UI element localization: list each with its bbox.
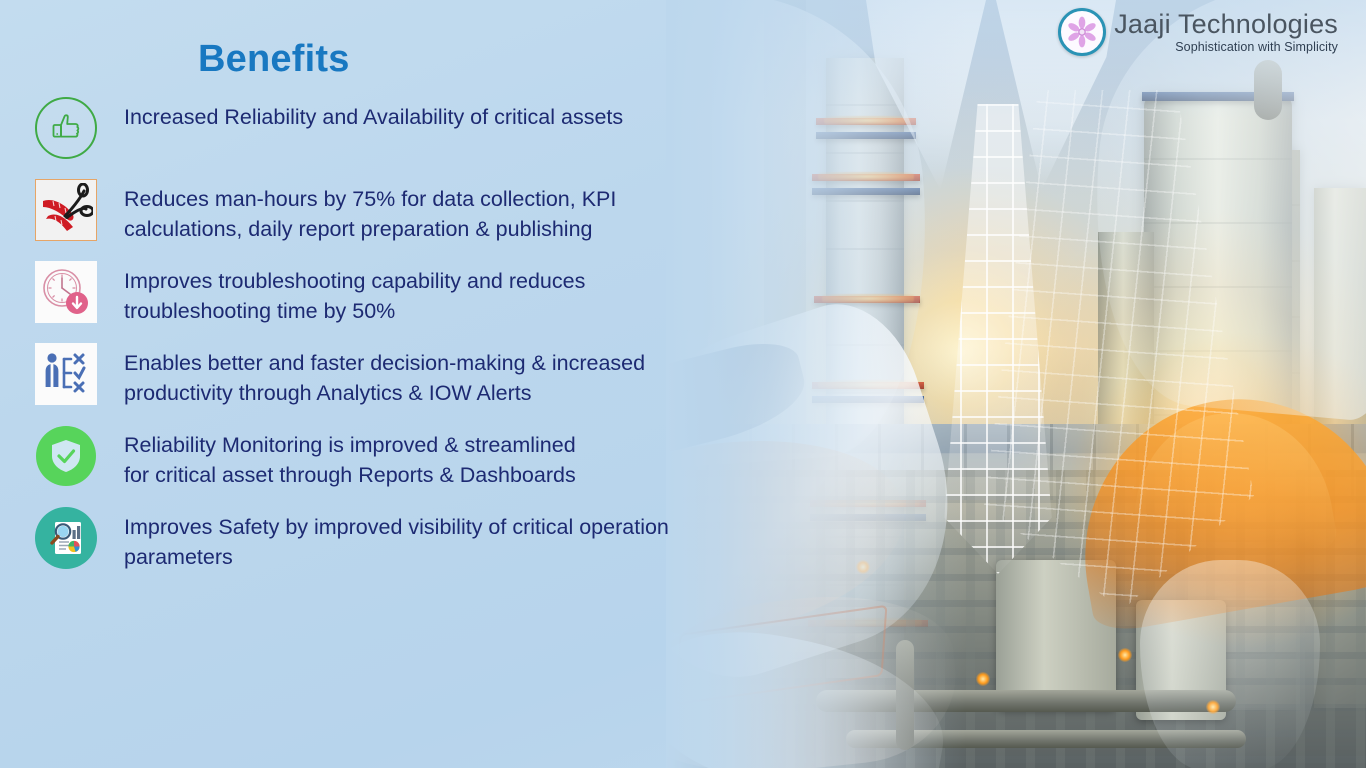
bullet-icon-wrap [30, 94, 102, 162]
bullet-icon-wrap [30, 340, 102, 408]
list-item-label: Improves troubleshooting capability and … [102, 258, 585, 326]
report-magnifier-icon [34, 506, 98, 570]
logo-company-name: Jaaji Technologies [1114, 11, 1338, 38]
content-layer: Benefits Increased Relia [0, 0, 1366, 768]
thumbs-up-icon [34, 96, 98, 160]
bullet-icon-wrap [30, 258, 102, 326]
list-item[interactable]: Improves Safety by improved visibility o… [30, 504, 730, 572]
list-item[interactable]: Improves troubleshooting capability and … [30, 258, 730, 326]
list-item-label: Reduces man-hours by 75% for data collec… [102, 176, 616, 244]
company-logo[interactable]: Jaaji Technologies Sophistication with S… [1058, 8, 1338, 56]
list-item-label: Reliability Monitoring is improved & str… [102, 422, 576, 490]
list-item[interactable]: Increased Reliability and Availability o… [30, 94, 730, 162]
benefits-list: Increased Reliability and Availability o… [30, 94, 730, 586]
list-item[interactable]: Enables better and faster decision-makin… [30, 340, 730, 408]
list-item-label: Improves Safety by improved visibility o… [102, 504, 669, 572]
clock-decrease-icon [34, 260, 98, 324]
flower-badge-icon [1058, 8, 1106, 56]
page-title: Benefits [198, 38, 350, 81]
bullet-icon-wrap [30, 422, 102, 490]
decision-person-icon [34, 342, 98, 406]
slide: Benefits Increased Relia [0, 0, 1366, 768]
bullet-icon-wrap [30, 504, 102, 572]
list-item[interactable]: Reduces man-hours by 75% for data collec… [30, 176, 730, 244]
logo-text-block: Jaaji Technologies Sophistication with S… [1114, 11, 1338, 54]
list-item-label: Increased Reliability and Availability o… [102, 94, 623, 132]
logo-tagline: Sophistication with Simplicity [1114, 41, 1338, 54]
shield-check-icon [34, 424, 98, 488]
list-item-label: Enables better and faster decision-makin… [102, 340, 645, 408]
bullet-icon-wrap [30, 176, 102, 244]
tape-measure-scissors-icon [34, 178, 98, 242]
list-item[interactable]: Reliability Monitoring is improved & str… [30, 422, 730, 490]
